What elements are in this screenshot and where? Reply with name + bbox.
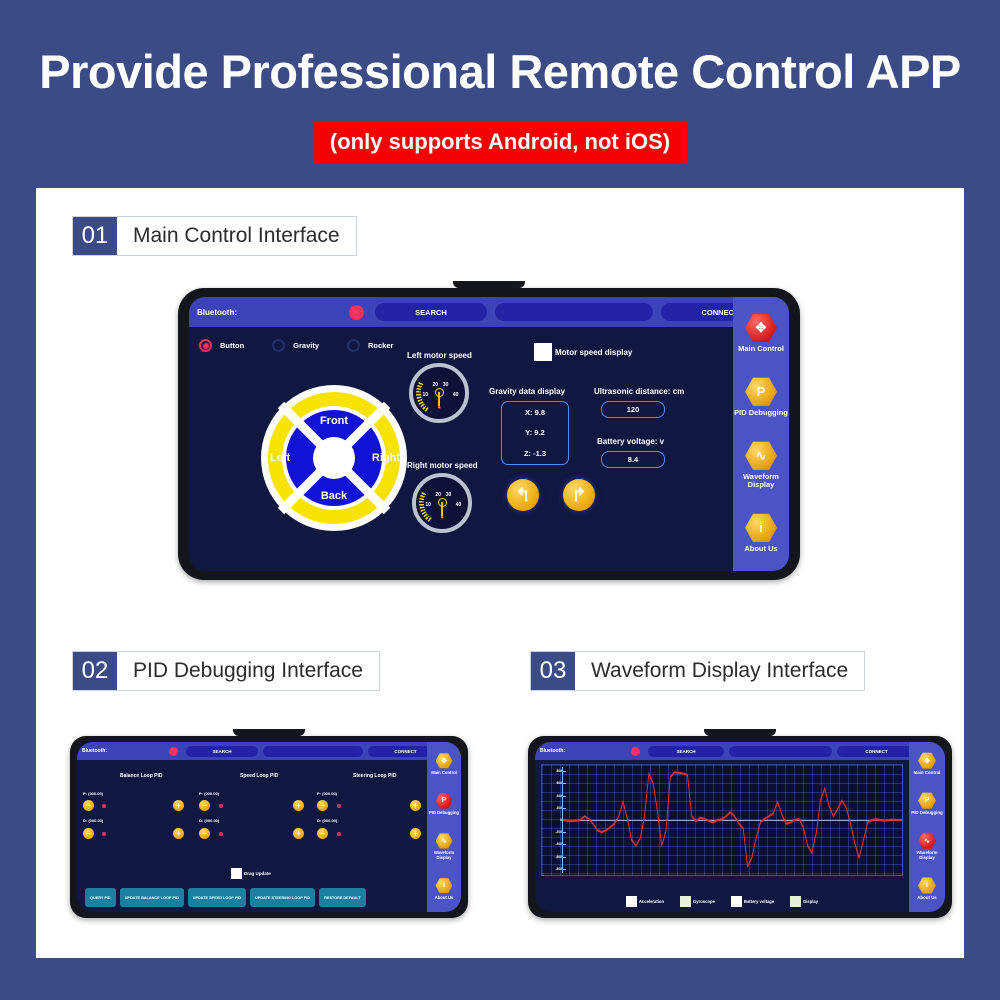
battery-voltage-title: Battery voltage: v [597,437,664,446]
sidebar-item-main-control[interactable]: ✥ Main Control [914,752,941,776]
dpad-right-button[interactable]: Right [372,452,400,464]
sidebar-label-about-us: About Us [744,545,777,553]
section-header-main-control: 01 Main Control Interface [72,216,357,256]
sidebar-item-main-control[interactable]: ✥ Main Control [738,313,784,353]
pid-speed-p-label: P: (000.00) [199,791,219,796]
app-screen-main: Bluetooth: SEARCH CONNECT Button Gravity… [189,297,789,571]
hex-dpad-icon[interactable]: ✥ [745,313,777,343]
platform-support-badge: (only supports Android, not iOS) [313,122,687,164]
gravity-data-title: Gravity data display [489,387,565,396]
motor-speed-display-toggle[interactable]: Motor speed display [534,343,632,361]
dpad-center-stop-button[interactable] [313,437,355,479]
radio-label-rocker: Rocker [368,341,393,350]
update-speed-loop-pid-button[interactable]: UPDATE SPEED LOOP PID [188,888,246,907]
gauge-dial: 10 20 30 40 0 [412,473,472,533]
waveform-legend: Acceleration Gyroscope Battery voltage D… [535,896,909,907]
sidebar-item-pid-debugging[interactable]: P PID Debugging [429,793,459,816]
phone-pid-debugging: Bluetooth: SEARCH CONNECT Balance Loop P… [70,736,468,918]
pid-steering-p-led [337,804,341,808]
sidebar-label-pid-debugging: PID Debugging [734,409,788,417]
legend-item-acceleration[interactable]: Acceleration [626,896,664,907]
device-select[interactable] [495,303,653,321]
sidebar-item-waveform-display[interactable]: ∿ Waveform Display [733,441,789,490]
legend-label-acceleration: Acceleration [639,899,664,904]
update-steering-loop-pid-button[interactable]: UPDATE STEERING LOOP PID [250,888,315,907]
device-select[interactable] [729,746,832,757]
pid-steering-p-label: P: (000.00) [317,791,337,796]
gauge-tick-10: 10 [422,392,428,398]
pid-column-title-balance: Balance Loop PID [120,773,163,779]
gravity-y-value: Y: 9.2 [525,428,544,437]
pid-speed-d-increment[interactable]: + [293,828,304,839]
gauge-zero-label: 0 [441,515,444,520]
sidebar-item-main-control[interactable]: ✥ Main Control [431,753,457,776]
gravity-data-box: X: 9.8 Y: 9.2 Z: -1.3 [501,401,569,465]
legend-item-battery-voltage[interactable]: Battery voltage [731,896,774,907]
ultrasonic-distance-title: Ultrasonic distance: cm [594,387,684,396]
gauge-tick-40: 40 [456,502,462,508]
bluetooth-status-indicator [349,305,364,320]
app-topbar: Bluetooth: SEARCH CONNECT [535,742,945,760]
radio-label-gravity: Gravity [293,341,319,350]
phone-main-control: Bluetooth: SEARCH CONNECT Button Gravity… [178,288,800,580]
pid-balance-d-decrement[interactable]: − [83,828,94,839]
section-label: PID Debugging Interface [117,652,379,690]
search-button[interactable]: SEARCH [375,303,487,321]
app-screen-waveform: Bluetooth: SEARCH CONNECT 8006004002000-… [535,742,945,912]
right-motor-gauge-title: Right motor speed [407,461,478,470]
phone-notch [233,729,305,736]
sidebar-label-main-control: Main Control [431,771,457,776]
checkbox-icon[interactable] [231,868,242,879]
pid-balance-p-led [102,804,106,808]
bluetooth-label: Bluetooth: [82,748,107,754]
hex-pid-icon[interactable]: P [918,792,936,809]
update-balance-loop-pid-button[interactable]: UPDATE BALANCE LOOP PID [120,888,184,907]
bluetooth-status-indicator [169,747,178,756]
gauge-dial: 10 20 30 40 0 [409,363,469,423]
chart-y-tick: 800 [556,769,562,773]
checkbox-icon[interactable] [626,896,637,907]
app-topbar: Bluetooth: SEARCH CONNECT [77,742,461,760]
ultrasonic-distance-value: 120 [601,401,665,418]
hex-pid-icon[interactable]: P [435,793,452,809]
pid-steering-p-decrement[interactable]: − [317,800,328,811]
sidebar-label-about-us: About Us [917,896,937,901]
main-control-body: Button Gravity Rocker Front Back Left Ri… [189,327,733,571]
pid-body: Balance Loop PID Speed Loop PID Steering… [77,760,427,912]
direction-pad[interactable]: Front Back Left Right [261,385,407,531]
chart-y-tick: 600 [556,781,562,785]
pid-balance-p-increment[interactable]: + [173,800,184,811]
gauge-tick-40: 40 [453,392,459,398]
legend-label-gyroscope: Gyroscope [693,899,715,904]
section-number: 01 [73,217,117,255]
legend-label-battery-voltage: Battery voltage [744,899,774,904]
pid-speed-p-decrement[interactable]: − [199,800,210,811]
query-pid-button[interactable]: QUERY PID [85,888,116,907]
bluetooth-label: Bluetooth: [540,748,565,754]
radio-label-button: Button [220,341,244,350]
legend-label-display: Display [803,899,818,904]
left-motor-gauge: Left motor speed 10 20 30 40 0 [407,351,472,423]
sidebar-label-main-control: Main Control [914,771,941,776]
waveform-trace [563,765,902,875]
chart-y-tick: -400 [555,842,562,846]
legend-item-gyroscope[interactable]: Gyroscope [680,896,715,907]
sidebar-label-pid-debugging: PID Debugging [911,811,942,816]
battery-voltage-value: 8.4 [601,451,665,468]
app-sidebar: ✥ Main Control P PID Debugging ∿ Wavefor… [733,297,789,571]
chart-y-tick: 200 [556,806,562,810]
gauge-tick-10: 10 [425,502,431,508]
dpad-back-button[interactable]: Back [261,490,407,502]
pid-balance-d-increment[interactable]: + [173,828,184,839]
sidebar-item-about-us[interactable]: i About Us [435,878,454,901]
sidebar-label-waveform-display: Waveform Display [909,851,945,861]
radio-button-mode[interactable] [199,339,212,352]
hex-dpad-icon[interactable]: ✥ [918,752,936,769]
hex-waveform-icon[interactable]: ∿ [745,441,777,471]
device-select[interactable] [263,746,363,757]
phone-notch [453,281,525,288]
sidebar-label-waveform-display: Waveform Display [427,851,461,860]
hex-waveform-icon[interactable]: ∿ [436,833,453,849]
hex-waveform-icon[interactable]: ∿ [918,832,936,849]
section-number: 03 [531,652,575,690]
pid-steering-d-increment[interactable]: + [410,828,421,839]
pid-action-bar: QUERY PID UPDATE BALANCE LOOP PID UPDATE… [85,888,366,907]
pid-steering-d-label: D: (000.00) [317,818,337,823]
pid-steering-d-led [337,832,341,836]
app-screen-pid: Bluetooth: SEARCH CONNECT Balance Loop P… [77,742,461,912]
sidebar-item-about-us[interactable]: i About Us [744,513,777,553]
pid-balance-d-label: D: (000.00) [83,818,103,823]
gauge-zero-label: 0 [438,405,441,410]
chart-y-tick: -800 [555,867,562,871]
right-motor-gauge: Right motor speed 10 20 30 40 0 [407,461,478,533]
sidebar-label-about-us: About Us [435,896,454,901]
chart-y-tick: -200 [555,830,562,834]
motor-speed-display-label: Motor speed display [555,348,632,357]
bluetooth-label: Bluetooth: [197,308,237,317]
hex-info-icon[interactable]: i [918,877,936,894]
dpad-front-button[interactable]: Front [261,415,407,427]
hex-pid-icon[interactable]: P [745,377,777,407]
sidebar-label-main-control: Main Control [738,345,784,353]
pid-speed-p-increment[interactable]: + [293,800,304,811]
pid-speed-d-label: D: (000.00) [199,818,219,823]
left-motor-gauge-title: Left motor speed [407,351,472,360]
drag-update-toggle[interactable]: Drag Update [231,868,271,879]
waveform-body: 8006004002000-200-400-600-800 Accelerati… [535,760,909,912]
restore-default-button[interactable]: RESTORE DEFAULT [319,888,366,907]
sidebar-label-waveform-display: Waveform Display [733,473,789,490]
section-label: Waveform Display Interface [575,652,864,690]
checkbox-icon[interactable] [534,343,552,361]
gravity-x-value: X: 9.8 [525,408,545,417]
gauge-tick-20: 20 [432,382,438,388]
radio-gravity-mode[interactable] [272,339,285,352]
app-sidebar: ✥ Main Control P PID Debugging ∿ Wavefor… [909,742,945,912]
checkbox-icon[interactable] [731,896,742,907]
page-title: Provide Professional Remote Control APP [0,44,1000,99]
chart-y-tick: 400 [556,794,562,798]
dpad-left-button[interactable]: Left [270,452,290,464]
sidebar-item-about-us[interactable]: i About Us [917,877,937,901]
pid-balance-p-decrement[interactable]: − [83,800,94,811]
connect-button[interactable]: CONNECT [837,746,916,757]
hex-info-icon[interactable]: i [435,878,452,894]
hex-info-icon[interactable]: i [745,513,777,543]
drag-update-label: Drag Update [244,871,271,876]
phone-notch [704,729,776,736]
pid-column-title-speed: Speed Loop PID [240,773,278,779]
pid-steering-d-decrement[interactable]: − [317,828,328,839]
legend-item-display[interactable]: Display [790,896,818,907]
turn-left-icon-button[interactable]: ↰ [507,479,539,511]
pid-balance-d-led [102,832,106,836]
phone-waveform-display: Bluetooth: SEARCH CONNECT 8006004002000-… [528,736,952,918]
waveform-chart[interactable]: 8006004002000-200-400-600-800 [541,764,903,876]
chart-y-tick: -600 [555,855,562,859]
checkbox-icon[interactable] [680,896,691,907]
control-mode-group: Button Gravity Rocker [199,339,421,352]
section-header-pid: 02 PID Debugging Interface [72,651,380,691]
gauge-tick-20: 20 [435,492,441,498]
search-button[interactable]: SEARCH [648,746,724,757]
sidebar-item-pid-debugging[interactable]: P PID Debugging [734,377,788,417]
radio-rocker-mode[interactable] [347,339,360,352]
sidebar-item-pid-debugging[interactable]: P PID Debugging [911,792,942,816]
section-label: Main Control Interface [117,217,356,255]
bluetooth-status-indicator [631,747,640,756]
pid-speed-d-led [219,832,223,836]
pid-column-title-steering: Steering Loop PID [353,773,396,779]
sidebar-item-waveform-display[interactable]: ∿ Waveform Display [427,833,461,860]
section-header-waveform: 03 Waveform Display Interface [530,651,865,691]
search-button[interactable]: SEARCH [186,746,258,757]
app-sidebar: ✥ Main Control P PID Debugging ∿ Wavefor… [427,742,461,912]
gauge-tick-30: 30 [446,492,452,498]
turn-right-icon-button[interactable]: ↱ [563,479,595,511]
pid-balance-p-label: P: (000.00) [83,791,103,796]
pid-speed-d-decrement[interactable]: − [199,828,210,839]
app-topbar: Bluetooth: SEARCH CONNECT [189,297,789,327]
section-number: 02 [73,652,117,690]
gravity-z-value: Z: -1.3 [524,449,546,458]
pid-speed-p-led [219,804,223,808]
checkbox-icon[interactable] [790,896,801,907]
hex-dpad-icon[interactable]: ✥ [436,753,453,769]
gauge-tick-30: 30 [443,382,449,388]
pid-steering-p-increment[interactable]: + [410,800,421,811]
sidebar-label-pid-debugging: PID Debugging [429,811,459,816]
sidebar-item-waveform-display[interactable]: ∿ Waveform Display [909,832,945,861]
